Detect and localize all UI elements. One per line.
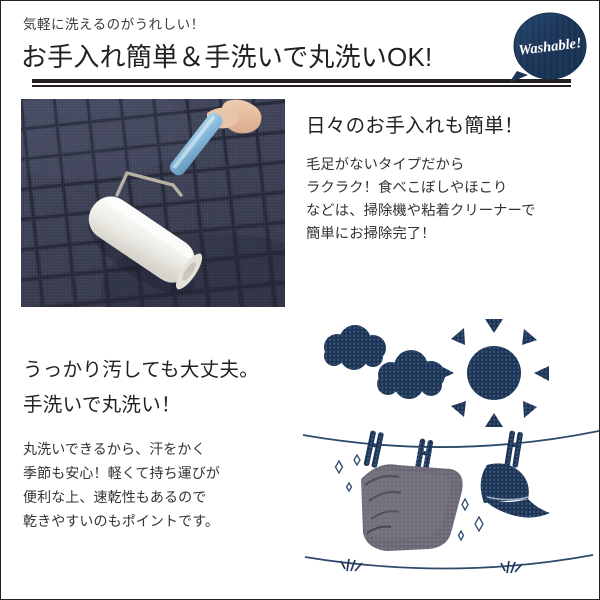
care-line-3: などは、掃除機や粘着クリーナーで (306, 200, 591, 223)
wash-line-2: 季節も安心！軽くて持ち運びが (23, 461, 303, 485)
hanging-cap (481, 463, 550, 517)
wash-body: 丸洗いできるから、汗をかく 季節も安心！軽くて持ち運びが 便利な上、速乾性もある… (23, 437, 303, 533)
header-eyebrow-text: 気軽に洗えるのがうれしい！ (23, 13, 205, 33)
wash-line-3: 便利な上、速乾性もあるので (23, 485, 303, 509)
clothesline-upper (303, 431, 599, 447)
care-body: 毛足がないタイプだから ラクラク！食べこぼしやほこり などは、掃除機や粘着クリー… (306, 154, 591, 246)
care-line-4: 簡単にお掃除完了！ (306, 223, 591, 246)
care-heading: 日々のお手入れも簡単！ (306, 109, 591, 138)
cloud-left (324, 325, 386, 370)
daily-care-block: 日々のお手入れも簡単！ 毛足がないタイプだから ラクラク！食べこぼしやほこり な… (306, 109, 591, 246)
washable-badge: Washable! (505, 9, 591, 89)
sun-icon (439, 319, 549, 427)
header-divider (32, 79, 571, 87)
wash-line-4: 乾きやすいのもポイントです。 (23, 509, 303, 533)
clothespin-1 (363, 430, 384, 468)
wash-heading-line-1: うっかり汚しても大丈夫。 (23, 353, 303, 382)
care-line-1: 毛足がないタイプだから (306, 154, 591, 177)
header-section: 気軽に洗えるのがうれしい！ お手入れ簡単＆手洗いで丸洗いOK! (1, 1, 600, 93)
clothespin-3 (504, 430, 523, 468)
wash-line-1: 丸洗いできるから、汗をかく (23, 437, 303, 461)
page-title: お手入れ簡単＆手洗いで丸洗いOK! (21, 37, 432, 74)
cleaning-photo (21, 99, 285, 307)
hand-wash-block: うっかり汚しても大丈夫。 手洗いで丸洗い！ 丸洗いできるから、汗をかく 季節も安… (23, 353, 303, 533)
product-feature-panel: 気軽に洗えるのがうれしい！ お手入れ簡単＆手洗いで丸洗いOK! (0, 0, 600, 600)
cloud-right (377, 350, 445, 399)
wash-heading-line-2: 手洗いで丸洗い！ (23, 388, 303, 417)
care-line-2: ラクラク！食べこぼしやほこり (306, 177, 591, 200)
laundry-illustration (301, 319, 600, 591)
folded-blanket (361, 464, 463, 551)
